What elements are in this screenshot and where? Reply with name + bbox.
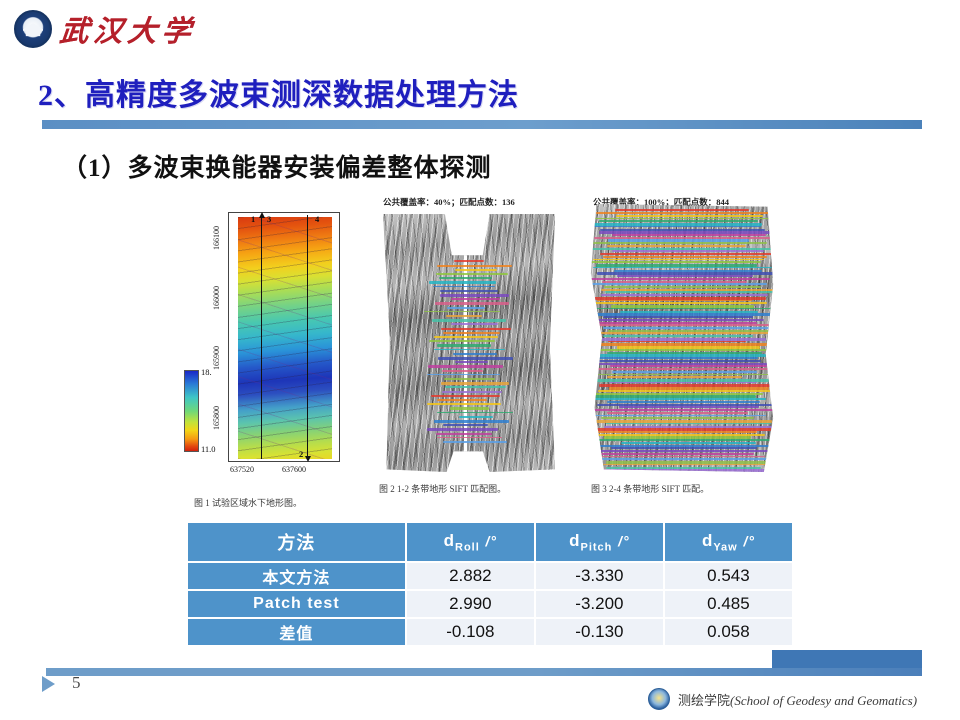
slide-canvas: 武汉大学 2、高精度多波束测深数据处理方法 （1）多波束换能器安装偏差整体探测 … (0, 0, 960, 720)
sift-match-line (597, 324, 769, 326)
y-tick-165900: 165900 (212, 346, 221, 370)
sift-match-line (435, 302, 509, 304)
sift-match-line (603, 316, 753, 318)
track-label-4: 4 (315, 214, 319, 224)
column-header-yaw: dYaw /° (665, 523, 792, 561)
sift-match-line (439, 277, 492, 279)
school-seal-icon (648, 688, 670, 710)
sift-match-line (598, 431, 757, 433)
sift-match-line (432, 319, 506, 322)
cell-yaw: 0.058 (665, 619, 792, 645)
sift-match-line (431, 395, 499, 398)
y-tick-166000: 166000 (212, 286, 221, 310)
track-label-3: 3 (267, 214, 271, 224)
sift-match-line (589, 283, 767, 285)
sift-match-line (596, 212, 775, 214)
sift-match-line (604, 286, 761, 288)
sift-match-line (603, 327, 774, 329)
cell-roll: 2.882 (407, 563, 534, 589)
sift-match-line (450, 407, 489, 410)
sift-match-line (593, 267, 773, 269)
sift-match-line (619, 406, 759, 408)
sift-match-line (447, 307, 485, 310)
school-name: 测绘学院(School of Geodesy and Geomatics) (678, 690, 917, 709)
sift-match-line (592, 357, 758, 359)
sift-match-line (427, 428, 498, 430)
sift-match-line (617, 275, 753, 277)
map-plot-frame: 1 3 4 2 (228, 212, 340, 462)
sift-match-line (453, 353, 497, 355)
sift-match-line (424, 311, 500, 313)
y-tick-165800: 165800 (212, 406, 221, 430)
sift-match-line (600, 253, 775, 255)
cell-yaw: 0.543 (665, 563, 792, 589)
sift-match-line (443, 332, 500, 335)
sift-match-line (609, 382, 757, 384)
sift-match-line (433, 286, 495, 288)
colorbar-min-label: 11.0 (201, 444, 216, 454)
sift-match-line (446, 315, 482, 317)
sift-match-line (429, 281, 496, 284)
section-subtitle: （1）多波束换能器安装偏差整体探测 (62, 148, 492, 184)
title-divider (42, 120, 922, 129)
sift-match-line (595, 332, 774, 334)
sift-match-line (459, 416, 493, 418)
sift-match-line (621, 442, 756, 444)
sift-match-line (437, 344, 492, 347)
sift-match-line (612, 250, 764, 252)
page-marker-icon (42, 676, 55, 692)
sift-match-line (440, 294, 509, 297)
figure-2-caption: 图 2 1-2 条带地形 SIFT 匹配图。 (379, 482, 506, 495)
footer-bar (46, 668, 922, 676)
sift-match-line (593, 259, 763, 261)
row-label: 差值 (188, 619, 405, 645)
sift-match-line (592, 439, 775, 441)
sift-match-line (605, 291, 773, 293)
cell-yaw: 0.485 (665, 591, 792, 617)
school-name-en: (School of Geodesy and Geomatics) (730, 693, 917, 708)
pitch-unit: /° (618, 533, 630, 549)
column-header-pitch: dPitch /° (536, 523, 663, 561)
sift-match-line (597, 300, 753, 302)
sift-match-line (612, 234, 766, 236)
sift-match-line (589, 398, 766, 400)
roll-base: d (444, 531, 455, 550)
depth-colorbar (184, 370, 199, 452)
figure-sift-match-1-2: 公共覆盖率：40%；匹配点数：136 图 2 1-2 条带地形 SIFT 匹配图… (375, 196, 565, 486)
roll-sub: Roll (455, 541, 480, 553)
sift-match-line (589, 319, 764, 321)
sift-match-line (610, 365, 768, 367)
table-row: 差值-0.108-0.1300.058 (188, 619, 792, 645)
figure-band: 1 3 4 2 166100 166000 165900 165800 6375… (170, 196, 810, 501)
sift-match-line (598, 390, 771, 392)
page-title: 2、高精度多波束测深数据处理方法 (38, 70, 519, 114)
table-row: Patch test2.990-3.2000.485 (188, 591, 792, 617)
row-label: 本文方法 (188, 563, 405, 589)
yaw-base: d (702, 531, 713, 550)
sift-match-line (445, 386, 506, 388)
sift-match-line (607, 245, 746, 247)
sift-match-line (606, 423, 770, 425)
sift-match-line (437, 437, 502, 439)
results-table: 方法 dRoll /° dPitch /° dYaw /° 本文方法2.882-… (186, 521, 794, 647)
sift-match-line (440, 290, 499, 292)
figure-2-header: 公共覆盖率：40%；匹配点数：136 (383, 196, 515, 208)
sift-match-line (444, 378, 495, 380)
university-brand: 武汉大学 (14, 8, 196, 50)
track-label-1: 1 (251, 214, 255, 224)
sift-match-line (436, 433, 492, 436)
sift-match-line (589, 450, 768, 452)
yaw-sub: Yaw (713, 541, 737, 553)
cell-roll: 2.990 (407, 591, 534, 617)
sift-match-line (607, 401, 760, 403)
sift-match-line (608, 341, 746, 343)
sift-match-line (434, 420, 509, 423)
sift-match-line (437, 399, 487, 401)
figure-3-caption: 图 3 2-4 条带地形 SIFT 匹配。 (591, 482, 709, 495)
sift-match-line (589, 374, 770, 376)
university-name: 武汉大学 (58, 8, 198, 50)
survey-track-line-1 (261, 215, 262, 459)
sift-match-line (598, 349, 775, 351)
sift-match-line (589, 415, 766, 417)
x-tick-637600: 637600 (282, 465, 306, 474)
figure-sift-match-2-4: 公共覆盖率：100%；匹配点数：844 图 3 2-4 条带地形 SIFT 匹配… (585, 196, 785, 486)
pitch-sub: Pitch (581, 541, 613, 553)
sift-match-line (592, 409, 775, 411)
cell-roll: -0.108 (407, 619, 534, 645)
row-label: Patch test (188, 591, 405, 617)
sift-match-line (451, 323, 498, 325)
sift-match-line (437, 265, 512, 267)
sift-match-line (427, 374, 500, 376)
sift-match-line (598, 368, 775, 370)
sift-match-line (589, 469, 768, 472)
y-tick-166100: 166100 (212, 226, 221, 250)
sonar-mosaic-1-2 (383, 214, 555, 472)
sift-match-line (455, 361, 488, 363)
yaw-unit: /° (743, 533, 755, 549)
sift-match-line (454, 260, 485, 262)
sift-match-line (434, 336, 498, 338)
table-header-row: 方法 dRoll /° dPitch /° dYaw /° (188, 523, 792, 561)
sift-match-line (442, 391, 502, 393)
figure-1-caption: 图 1 试验区域水下地形图。 (194, 496, 302, 509)
sift-match-line (438, 357, 513, 360)
sift-match-line (441, 382, 509, 385)
cell-pitch: -0.130 (536, 619, 663, 645)
sift-match-line (592, 226, 761, 228)
cell-pitch: -3.330 (536, 563, 663, 589)
roll-unit: /° (486, 533, 498, 549)
sift-match-line (436, 273, 508, 275)
sift-match-line (589, 278, 770, 280)
sift-match-line (437, 412, 513, 414)
sift-match-line (451, 298, 500, 300)
sift-match-line (434, 349, 506, 351)
sift-match-line (600, 464, 775, 466)
sift-match-line (441, 328, 511, 330)
table-row: 本文方法2.882-3.3300.543 (188, 563, 792, 589)
school-name-zh: 测绘学院 (678, 693, 730, 708)
sift-match-line (428, 365, 504, 367)
sift-match-line (590, 456, 764, 458)
x-tick-637520: 637520 (230, 465, 254, 474)
column-header-roll: dRoll /° (407, 523, 534, 561)
survey-track-line-2 (307, 215, 308, 459)
sift-match-line (593, 360, 761, 362)
sift-match-line (589, 242, 767, 244)
sift-match-lines-2-4 (589, 204, 775, 472)
bathymetry-surface (238, 217, 332, 459)
sift-match-line (596, 308, 775, 310)
column-header-method: 方法 (188, 523, 405, 561)
table-body: 本文方法2.882-3.3300.543Patch test2.990-3.20… (188, 563, 792, 645)
sift-match-line (429, 340, 495, 342)
school-credit: 测绘学院(School of Geodesy and Geomatics) (648, 688, 917, 710)
university-seal-icon (14, 10, 52, 48)
sift-match-line (443, 424, 488, 426)
sift-match-line (442, 370, 483, 373)
colorbar-max-label: 18. (201, 367, 212, 377)
sift-match-line (611, 447, 757, 449)
sift-match-line (601, 294, 768, 296)
figure-bathymetric-map: 1 3 4 2 166100 166000 165900 165800 6375… (180, 210, 355, 482)
sonar-mosaic-2-4 (589, 204, 775, 472)
sift-match-line (615, 209, 749, 211)
sift-match-line (443, 441, 507, 443)
pitch-base: d (569, 531, 580, 550)
page-number: 5 (72, 673, 81, 693)
track-label-2: 2 (299, 449, 303, 459)
sift-match-line (427, 403, 500, 405)
sift-match-lines-1-2 (383, 214, 555, 472)
sift-match-line (455, 269, 497, 272)
sift-match-line (595, 218, 775, 220)
cell-pitch: -3.200 (536, 591, 663, 617)
